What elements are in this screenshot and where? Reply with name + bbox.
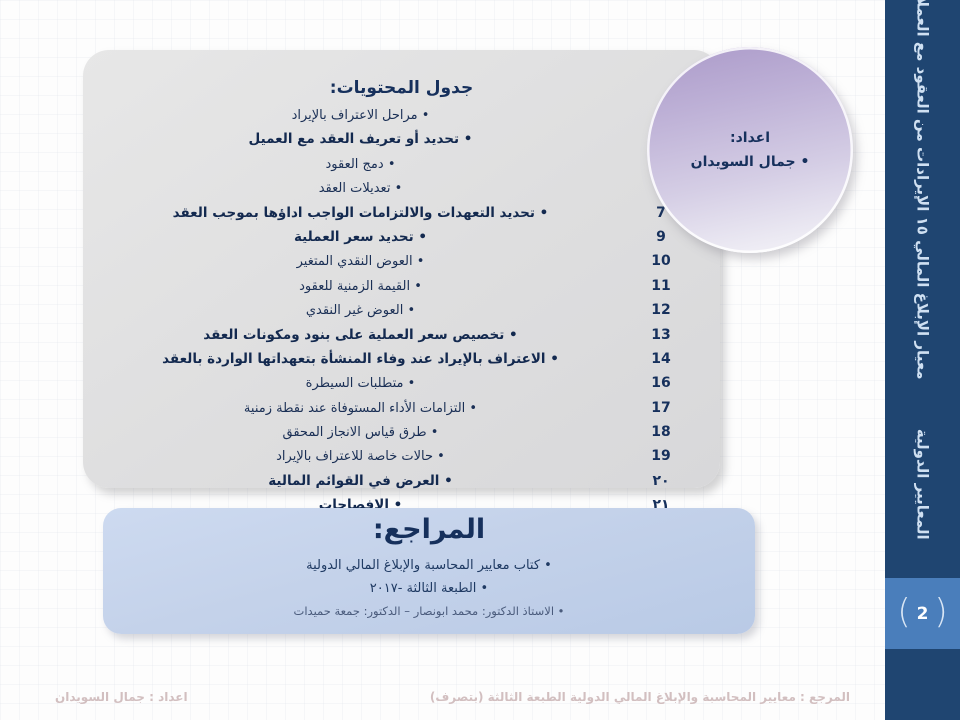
table-of-contents-entry-label: • الاعتراف بالإيراد عند وفاء المنشأة بتع… — [83, 351, 602, 367]
table-of-contents-entry-label: • تعديلات العقد — [83, 181, 602, 196]
references-item: • الطبعة الثالثة -٢٠١٧ — [103, 577, 755, 600]
table-of-contents-entry-label: • تحديد سعر العملية — [83, 229, 602, 245]
table-of-contents-entry-label: • القيمة الزمنية للعقود — [83, 279, 602, 294]
table-of-contents-entry-label: • طرق قياس الانجاز المحقق — [83, 425, 602, 440]
table-of-contents-row[interactable]: 7• تحديد التعهدات والالتزامات الواجب ادا… — [83, 205, 720, 229]
bullet-icon: • — [384, 157, 396, 172]
table-of-contents-panel: جدول المحتويات: 3• مراحل الاعتراف بالإير… — [83, 50, 720, 488]
bullet-icon: • — [554, 604, 564, 618]
table-of-contents-row[interactable]: 3• مراحل الاعتراف بالإيراد — [83, 107, 720, 131]
table-of-contents-list: 3• مراحل الاعتراف بالإيراد4• تحديد أو تع… — [83, 107, 720, 522]
table-of-contents-row[interactable]: 4• تحديد أو تعريف العقد مع العميل — [83, 131, 720, 155]
footer-reference-note: المرجع : معايير المحاسبة والإبلاغ المالي… — [430, 690, 850, 704]
table-of-contents-entry-label: • مراحل الاعتراف بالإيراد — [83, 108, 602, 123]
bullet-icon: • — [535, 205, 548, 221]
references-item: • كتاب معايير المحاسبة والإبلاغ المالي ا… — [103, 554, 755, 577]
references-item: • الاستاذ الدكتور: محمد ابونصار – الدكتو… — [103, 600, 755, 623]
author-circle-name: • جمال السويدان — [691, 154, 810, 170]
table-of-contents-row[interactable]: 14• الاعتراف بالإيراد عند وفاء المنشأة ب… — [83, 351, 720, 375]
bullet-icon: • — [414, 229, 427, 245]
page-title: جدول المحتويات: — [83, 78, 720, 98]
table-of-contents-entry-label: • العرض في القوائم المالية — [83, 473, 602, 489]
bullet-icon: • — [390, 181, 402, 196]
bullet-icon: • — [433, 449, 445, 464]
bullet-icon: • — [504, 327, 517, 343]
bullet-icon: • — [476, 581, 488, 596]
table-of-contents-entry-page: 16 — [602, 375, 720, 391]
table-of-contents-row[interactable]: 6• تعديلات العقد — [83, 180, 720, 204]
sidebar-subheading: معيار الإبلاغ المالي ١٥ الإيرادات من الع… — [914, 0, 932, 380]
footer-author-note: اعداد : جمال السويدان — [55, 690, 188, 704]
bullet-icon: • — [418, 108, 430, 123]
bullet-icon: • — [410, 279, 422, 294]
bracket-left-icon: ( — [934, 595, 947, 629]
bullet-icon: • — [459, 131, 472, 147]
table-of-contents-entry-label: • حالات خاصة للاعتراف بالإيراد — [83, 449, 602, 464]
references-title: المراجع: — [103, 514, 755, 545]
table-of-contents-row[interactable]: 18• طرق قياس الانجاز المحقق — [83, 424, 720, 448]
bullet-icon: • — [403, 303, 415, 318]
table-of-contents-entry-page: ٢٠ — [602, 473, 720, 489]
table-of-contents-entry-label: • تحديد أو تعريف العقد مع العميل — [83, 131, 602, 147]
table-of-contents-entry-label: • العوض غير النقدي — [83, 303, 602, 318]
author-circle: اعداد: • جمال السويدان — [647, 47, 853, 253]
table-of-contents-entry-page: 19 — [602, 448, 720, 464]
table-of-contents-row[interactable]: 13• تخصيص سعر العملية على بنود ومكونات ا… — [83, 327, 720, 351]
table-of-contents-row[interactable]: 9• تحديد سعر العملية — [83, 229, 720, 253]
bullet-icon: • — [404, 376, 416, 391]
references-item-label: الطبعة الثالثة -٢٠١٧ — [370, 581, 477, 596]
table-of-contents-row[interactable]: 16• متطلبات السيطرة — [83, 375, 720, 399]
author-circle-content: اعداد: • جمال السويدان — [647, 47, 853, 253]
sidebar: المعايير الدولية معيار الإبلاغ المالي ١٥… — [885, 0, 960, 720]
bullet-icon: • — [465, 401, 477, 416]
table-of-contents-row[interactable]: 19• حالات خاصة للاعتراف بالإيراد — [83, 448, 720, 472]
bracket-right-icon: ) — [897, 595, 910, 629]
bullet-icon: • — [546, 351, 559, 367]
references-item-label: كتاب معايير المحاسبة والإبلاغ المالي الد… — [306, 558, 540, 573]
references-box: المراجع: • كتاب معايير المحاسبة والإبلاغ… — [103, 508, 755, 634]
bullet-icon: • — [413, 254, 425, 269]
bullet-icon: • — [439, 473, 452, 489]
table-of-contents-entry-page: 12 — [602, 302, 720, 318]
table-of-contents-entry-label: • متطلبات السيطرة — [83, 376, 602, 391]
table-of-contents-entry-label: • التزامات الأداء المستوفاة عند نقطة زمن… — [83, 401, 602, 416]
table-of-contents-entry-label: • تحديد التعهدات والالتزامات الواجب اداؤ… — [83, 205, 602, 221]
bullet-icon: • — [540, 558, 552, 573]
references-list: • كتاب معايير المحاسبة والإبلاغ المالي ا… — [103, 554, 755, 623]
table-of-contents-entry-label: • العوض النقدي المتغير — [83, 254, 602, 269]
table-of-contents-row[interactable]: ٢٠• العرض في القوائم المالية — [83, 473, 720, 497]
table-of-contents-entry-page: 17 — [602, 400, 720, 416]
sidebar-vertical-text-inner: المعايير الدولية معيار الإبلاغ المالي ١٥… — [914, 0, 932, 540]
page-number-value: 2 — [917, 604, 929, 624]
table-of-contents-entry-page: 10 — [602, 253, 720, 269]
bullet-icon: • — [800, 154, 809, 170]
slide-canvas: جدول المحتويات: 3• مراحل الاعتراف بالإير… — [0, 0, 960, 720]
table-of-contents-row[interactable]: 17• التزامات الأداء المستوفاة عند نقطة ز… — [83, 400, 720, 424]
table-of-contents-entry-page: 18 — [602, 424, 720, 440]
sidebar-heading: المعايير الدولية — [914, 429, 932, 540]
bullet-icon: • — [427, 425, 439, 440]
table-of-contents-entry-label: • تخصيص سعر العملية على بنود ومكونات الع… — [83, 327, 602, 343]
table-of-contents-entry-label: • دمج العقود — [83, 157, 602, 172]
table-of-contents-entry-page: 13 — [602, 327, 720, 343]
page-number-badge: ( 2 ) — [885, 578, 960, 649]
table-of-contents-row[interactable]: 5• دمج العقود — [83, 156, 720, 180]
references-item-label: الاستاذ الدكتور: محمد ابونصار – الدكتور:… — [294, 604, 555, 618]
author-circle-title: اعداد: — [730, 130, 770, 146]
table-of-contents-row[interactable]: 10• العوض النقدي المتغير — [83, 253, 720, 277]
table-of-contents-entry-page: 11 — [602, 278, 720, 294]
table-of-contents-row[interactable]: 12• العوض غير النقدي — [83, 302, 720, 326]
table-of-contents-row[interactable]: 11• القيمة الزمنية للعقود — [83, 278, 720, 302]
table-of-contents-entry-page: 14 — [602, 351, 720, 367]
sidebar-vertical-text: المعايير الدولية معيار الإبلاغ المالي ١٥… — [885, 0, 960, 560]
